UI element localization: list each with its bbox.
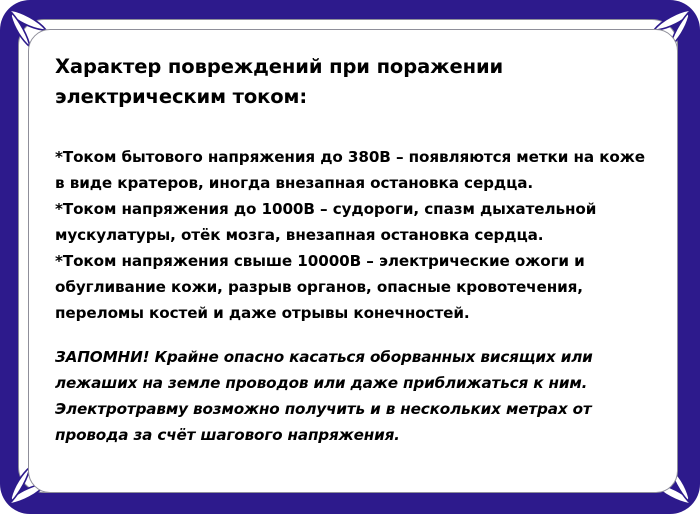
paragraph-voltage-10000v: *Током напряжения свыше 10000В – электри… — [55, 248, 651, 326]
paragraph-voltage-380v: *Током бытового напряжения до 380В – поя… — [55, 144, 651, 196]
page-title-line-1: Характер повреждений при поражении — [55, 52, 651, 82]
paragraph-line: *Током напряжения свыше 10000В – электри… — [55, 248, 651, 274]
page-title-line-2: электрическим током: — [55, 82, 651, 112]
paragraph-line: переломы костей и даже отрывы конечносте… — [55, 300, 651, 326]
spacer-after-title — [55, 118, 651, 144]
remember-warning-paragraph: ЗАПОМНИ! Крайне опасно касаться оборванн… — [55, 344, 651, 448]
paragraph-line: мускулатуры, отёк мозга, внезапная остан… — [55, 222, 651, 248]
paragraph-line: в виде кратеров, иногда внезапная остано… — [55, 170, 651, 196]
warning-line: Электротравму возможно получить и в неск… — [55, 396, 651, 422]
warning-line: ЗАПОМНИ! Крайне опасно касаться оборванн… — [55, 344, 651, 370]
warning-line: провода за счёт шагового напряжения. — [55, 422, 651, 448]
poster-root: Характер повреждений при поражении элект… — [0, 0, 700, 514]
spacer-before-warning — [55, 326, 651, 344]
paragraph-line: *Током бытового напряжения до 380В – поя… — [55, 144, 651, 170]
paragraph-line: *Током напряжения до 1000В – судороги, с… — [55, 196, 651, 222]
page-title: Характер повреждений при поражении элект… — [55, 52, 651, 112]
paragraph-line: обугливание кожи, разрыв органов, опасны… — [55, 274, 651, 300]
warning-line: лежаших на земле проводов или даже прибл… — [55, 370, 651, 396]
card-body: Характер повреждений при поражении элект… — [29, 30, 677, 458]
content-card: Характер повреждений при поражении элект… — [28, 29, 678, 493]
paragraph-voltage-1000v: *Током напряжения до 1000В – судороги, с… — [55, 196, 651, 248]
